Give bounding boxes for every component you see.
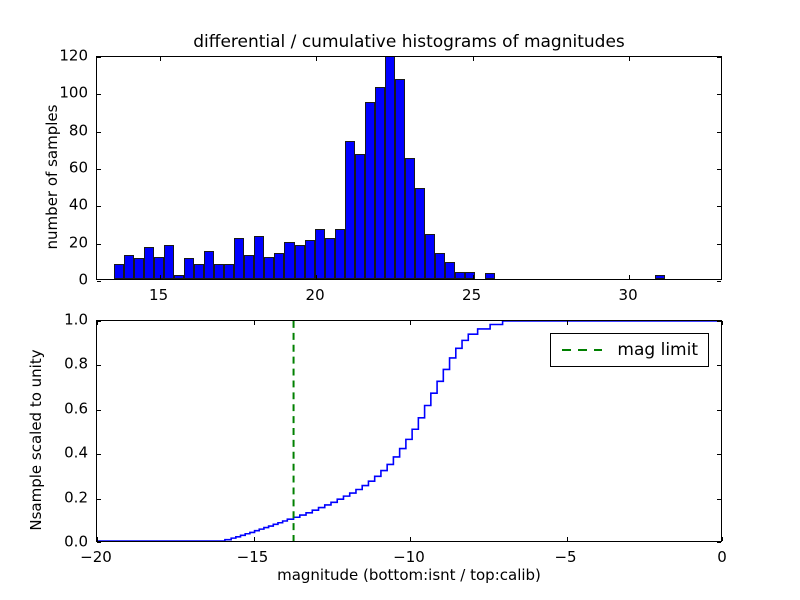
y-axis-label-bottom: Nsample scaled to unity: [27, 329, 45, 551]
y-tick-mark: [97, 542, 101, 543]
y-tick-mark: [717, 169, 721, 170]
x-tick-mark: [97, 537, 98, 541]
x-tick-mark: [410, 537, 411, 541]
x-tick-mark: [473, 57, 474, 61]
y-tick-mark: [97, 57, 101, 58]
y-tick-mark: [717, 57, 721, 58]
y-tick-mark: [717, 410, 721, 411]
y-tick-mark: [717, 206, 721, 207]
x-tick-mark: [567, 537, 568, 541]
y-tick-label: 0.6: [38, 401, 88, 416]
histogram-bar: [455, 272, 465, 279]
histogram-bar: [405, 158, 415, 279]
histogram-bar: [244, 255, 254, 279]
histogram-bar: [264, 257, 274, 279]
y-tick-label: 0.8: [38, 357, 88, 372]
x-tick-mark: [629, 57, 630, 61]
mag-limit-legend-swatch: [561, 343, 603, 357]
y-tick-mark: [717, 454, 721, 455]
x-tick-mark: [722, 537, 723, 541]
histogram-bar: [184, 258, 194, 279]
y-tick-mark: [717, 94, 721, 95]
y-tick-label: 1.0: [38, 313, 88, 328]
x-tick-mark: [473, 275, 474, 279]
histogram-bar: [214, 264, 224, 279]
x-tick-label: 15: [149, 288, 168, 303]
x-tick-mark: [410, 321, 411, 325]
y-tick-mark: [97, 410, 101, 411]
histogram-bar: [335, 229, 345, 279]
histogram-bar: [355, 154, 365, 279]
legend[interactable]: mag limit: [550, 333, 709, 367]
histogram-bar: [395, 79, 405, 279]
histogram-bar: [174, 275, 184, 279]
y-tick-mark: [97, 499, 101, 500]
x-tick-mark: [629, 275, 630, 279]
x-tick-label: −5: [554, 550, 576, 565]
y-tick-label: 0.0: [38, 535, 88, 550]
y-tick-mark: [717, 244, 721, 245]
histogram-bar: [204, 251, 214, 279]
x-tick-label: 30: [619, 288, 638, 303]
x-tick-mark: [160, 275, 161, 279]
y-axis-label-top: number of samples: [43, 65, 61, 289]
histogram-bar: [295, 245, 305, 279]
y-tick-label: 0.4: [38, 446, 88, 461]
y-tick-mark: [97, 206, 101, 207]
differential-histogram-axes: [96, 56, 722, 280]
x-tick-mark: [316, 275, 317, 279]
y-tick-mark: [97, 244, 101, 245]
x-tick-label: 20: [306, 288, 325, 303]
histogram-bar: [345, 141, 355, 279]
histogram-bar: [144, 247, 154, 279]
x-tick-mark: [254, 321, 255, 325]
histogram-bar: [435, 253, 445, 279]
x-tick-mark: [316, 57, 317, 61]
x-tick-mark: [722, 321, 723, 325]
histogram-bar: [305, 240, 315, 279]
histogram-bar: [425, 234, 435, 279]
y-tick-mark: [97, 94, 101, 95]
histogram-plot-area: [97, 57, 721, 279]
histogram-bar: [164, 245, 174, 279]
x-axis-label: magnitude (bottom:isnt / top:calib): [96, 566, 722, 584]
histogram-bar: [114, 264, 124, 279]
x-tick-label: −20: [80, 550, 112, 565]
histogram-bar: [485, 273, 495, 279]
histogram-bar: [124, 255, 134, 279]
y-tick-mark: [717, 321, 721, 322]
x-tick-mark: [160, 57, 161, 61]
histogram-bar: [365, 102, 375, 279]
histogram-bar: [234, 238, 244, 279]
y-tick-mark: [717, 132, 721, 133]
histogram-bar: [325, 238, 335, 279]
x-tick-label: 25: [462, 288, 481, 303]
histogram-bar: [415, 188, 425, 279]
y-tick-mark: [97, 281, 101, 282]
histogram-bar: [284, 242, 294, 279]
histogram-bar: [134, 258, 144, 279]
histogram-bar: [375, 87, 385, 279]
legend-label-mag-limit: mag limit: [617, 340, 698, 360]
matplotlib-figure: differential / cumulative histograms of …: [0, 0, 800, 600]
y-tick-mark: [97, 132, 101, 133]
x-tick-mark: [567, 321, 568, 325]
x-tick-label: −15: [237, 550, 269, 565]
y-tick-label: 0.2: [38, 490, 88, 505]
page-title: differential / cumulative histograms of …: [96, 32, 722, 52]
cumulative-histogram-axes: mag limit: [96, 320, 722, 542]
histogram-bar: [445, 262, 455, 279]
y-tick-mark: [97, 321, 101, 322]
y-tick-mark: [97, 454, 101, 455]
y-tick-mark: [97, 169, 101, 170]
y-tick-label: 120: [38, 49, 88, 64]
y-tick-mark: [717, 365, 721, 366]
histogram-bar: [224, 264, 234, 279]
histogram-bar: [194, 264, 204, 279]
histogram-bar: [274, 253, 284, 279]
x-tick-mark: [254, 537, 255, 541]
histogram-bar: [315, 229, 325, 279]
histogram-bar: [385, 57, 395, 279]
y-tick-mark: [717, 281, 721, 282]
x-tick-label: 0: [717, 550, 727, 565]
y-tick-mark: [97, 365, 101, 366]
histogram-bar: [655, 275, 665, 279]
y-tick-mark: [717, 499, 721, 500]
histogram-bar: [254, 236, 264, 279]
x-tick-label: −10: [393, 550, 425, 565]
y-tick-mark: [717, 542, 721, 543]
